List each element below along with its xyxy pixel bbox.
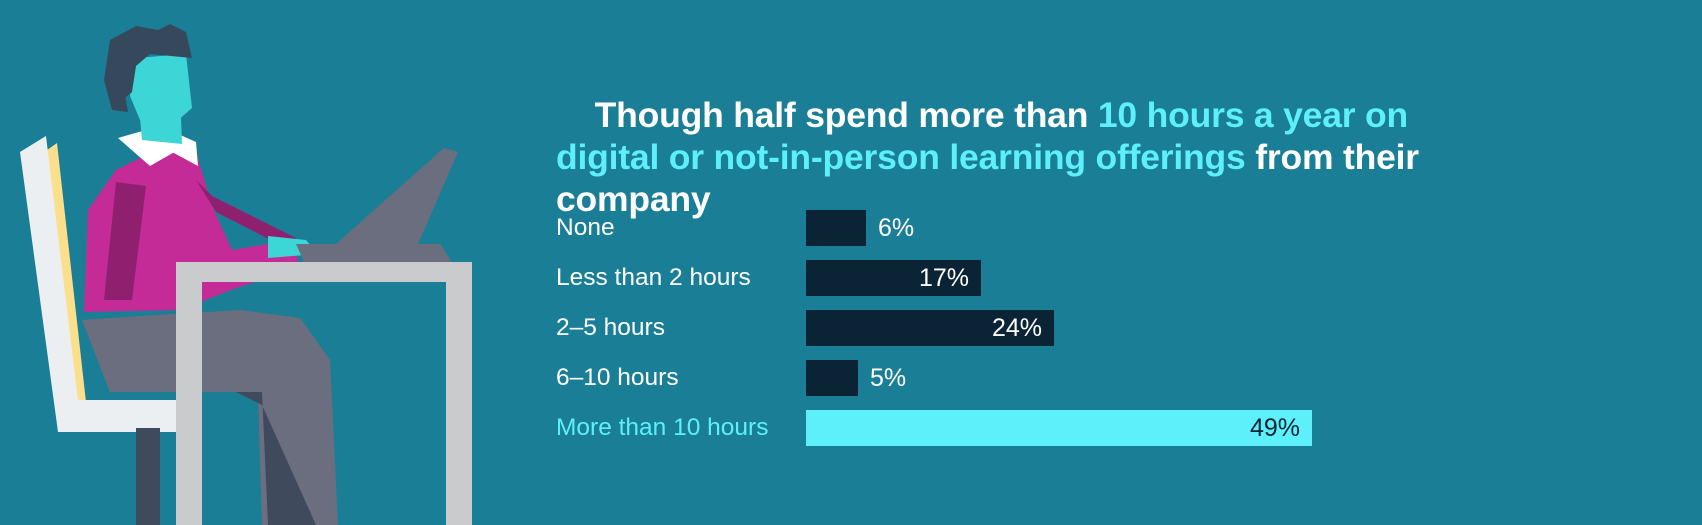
bar <box>806 360 858 396</box>
chart-row: None 6% <box>556 203 1556 253</box>
bar-label: None <box>556 203 790 253</box>
chart-row-highlighted: More than 10 hours 49% <box>556 403 1556 453</box>
chart-row: 2–5 hours 24% <box>556 303 1556 353</box>
bar-label: More than 10 hours <box>556 403 790 453</box>
bar: 17% <box>806 260 981 296</box>
desk-leg-left <box>176 262 202 525</box>
bar-value: 5% <box>870 360 906 396</box>
chart-row: Less than 2 hours 17% <box>556 253 1556 303</box>
horizontal-bar-chart: None 6% Less than 2 hours 17% 2–5 hours … <box>556 203 1556 453</box>
bar-value: 17% <box>919 260 969 296</box>
bar-value: 49% <box>1250 410 1300 446</box>
bar-track: 5% <box>806 353 1546 403</box>
person-at-desk-illustration <box>0 0 520 525</box>
bar-label: Less than 2 hours <box>556 253 790 303</box>
desk-leg-right <box>446 262 472 525</box>
bar <box>806 210 866 246</box>
bar-label: 2–5 hours <box>556 303 790 353</box>
bar-track: 49% <box>806 403 1546 453</box>
bar-value: 6% <box>878 210 914 246</box>
chart-row: 6–10 hours 5% <box>556 353 1556 403</box>
bar-track: 24% <box>806 303 1546 353</box>
bar-value: 24% <box>992 310 1042 346</box>
laptop-base <box>296 244 452 262</box>
bar-label: 6–10 hours <box>556 353 790 403</box>
bar: 49% <box>806 410 1312 446</box>
bar-track: 17% <box>806 253 1546 303</box>
chair-leg <box>136 428 160 525</box>
infographic-stage: Though half spend more than 10 hours a y… <box>0 0 1702 525</box>
headline-part-1: Though half spend more than <box>595 95 1098 135</box>
bar-track: 6% <box>806 203 1546 253</box>
bar: 24% <box>806 310 1054 346</box>
illustration-svg <box>0 0 520 525</box>
desk-top <box>176 262 472 282</box>
head <box>130 54 192 122</box>
